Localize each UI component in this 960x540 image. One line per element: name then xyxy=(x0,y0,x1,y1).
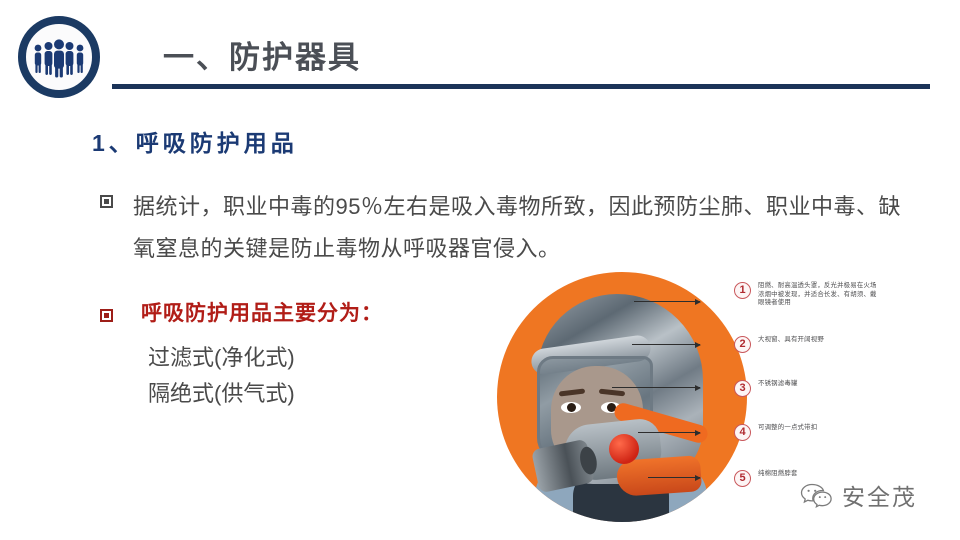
respirator-type-list: 过滤式(净化式) 隔绝式(供气式) xyxy=(148,340,295,412)
wechat-bubble-icon xyxy=(800,482,834,508)
slide-canvas: 一、防护器具 1、呼吸防护用品 据统计，职业中毒的95％左右是吸入毒物所致，因此… xyxy=(0,0,960,540)
watermark: 安全茂 xyxy=(800,478,917,512)
square-bullet-icon xyxy=(100,195,113,208)
bullet-categories: 呼吸防护用品主要分为： xyxy=(100,300,383,328)
annotation-2: 2 大视窗、具有开阔视野 xyxy=(734,336,878,353)
annotation-1: 1 阻燃、耐高温透头罩，反光并极易在火场浓烟中被发现，并适合长发、有胡须、戴眼镜… xyxy=(734,282,878,308)
person-wearing-respirator xyxy=(521,294,719,522)
slide-header: 一、防护器具 xyxy=(0,0,960,110)
watermark-text: 安全茂 xyxy=(842,478,917,512)
group-people-circle-icon xyxy=(18,16,100,98)
section-subtitle: 1、呼吸防护用品 xyxy=(92,124,298,158)
pupil-left xyxy=(567,403,576,412)
leader-line-2 xyxy=(632,344,700,345)
annotation-number-badge: 4 xyxy=(734,424,751,441)
red-valve-shape xyxy=(609,434,639,464)
annotation-text: 可调整的一点式带扣 xyxy=(758,424,878,433)
annotation-number-badge: 1 xyxy=(734,282,751,299)
annotation-number-badge: 5 xyxy=(734,470,751,487)
annotation-number-badge: 2 xyxy=(734,336,751,353)
annotation-text: 大视窗、具有开阔视野 xyxy=(758,336,878,345)
people-glyphs xyxy=(29,38,89,78)
page-title: 一、防护器具 xyxy=(163,32,361,77)
header-divider xyxy=(112,84,930,89)
list-item: 隔绝式(供气式) xyxy=(148,376,295,412)
leader-line-4 xyxy=(638,432,700,433)
leader-line-1 xyxy=(634,301,700,302)
square-bullet-icon xyxy=(100,309,113,322)
annotation-4: 4 可调整的一点式带扣 xyxy=(734,424,878,441)
annotation-text: 阻燃、耐高温透头罩，反光并极易在火场浓烟中被发现，并适合长发、有胡须、戴眼镜者使… xyxy=(758,282,878,308)
list-item: 过滤式(净化式) xyxy=(148,340,295,376)
leader-line-5 xyxy=(648,477,700,478)
bullet-statistics: 据统计，职业中毒的95％左右是吸入毒物所致，因此预防尘肺、职业中毒、缺氧窒息的关… xyxy=(100,186,920,270)
annotation-text: 不锈钢滤毒罐 xyxy=(758,380,878,389)
bullet-categories-text: 呼吸防护用品主要分为： xyxy=(141,300,383,328)
annotation-3: 3 不锈钢滤毒罐 xyxy=(734,380,878,397)
bullet-statistics-text: 据统计，职业中毒的95％左右是吸入毒物所致，因此预防尘肺、职业中毒、缺氧窒息的关… xyxy=(133,186,920,270)
leader-line-3 xyxy=(612,387,700,388)
annotation-number-badge: 3 xyxy=(734,380,751,397)
